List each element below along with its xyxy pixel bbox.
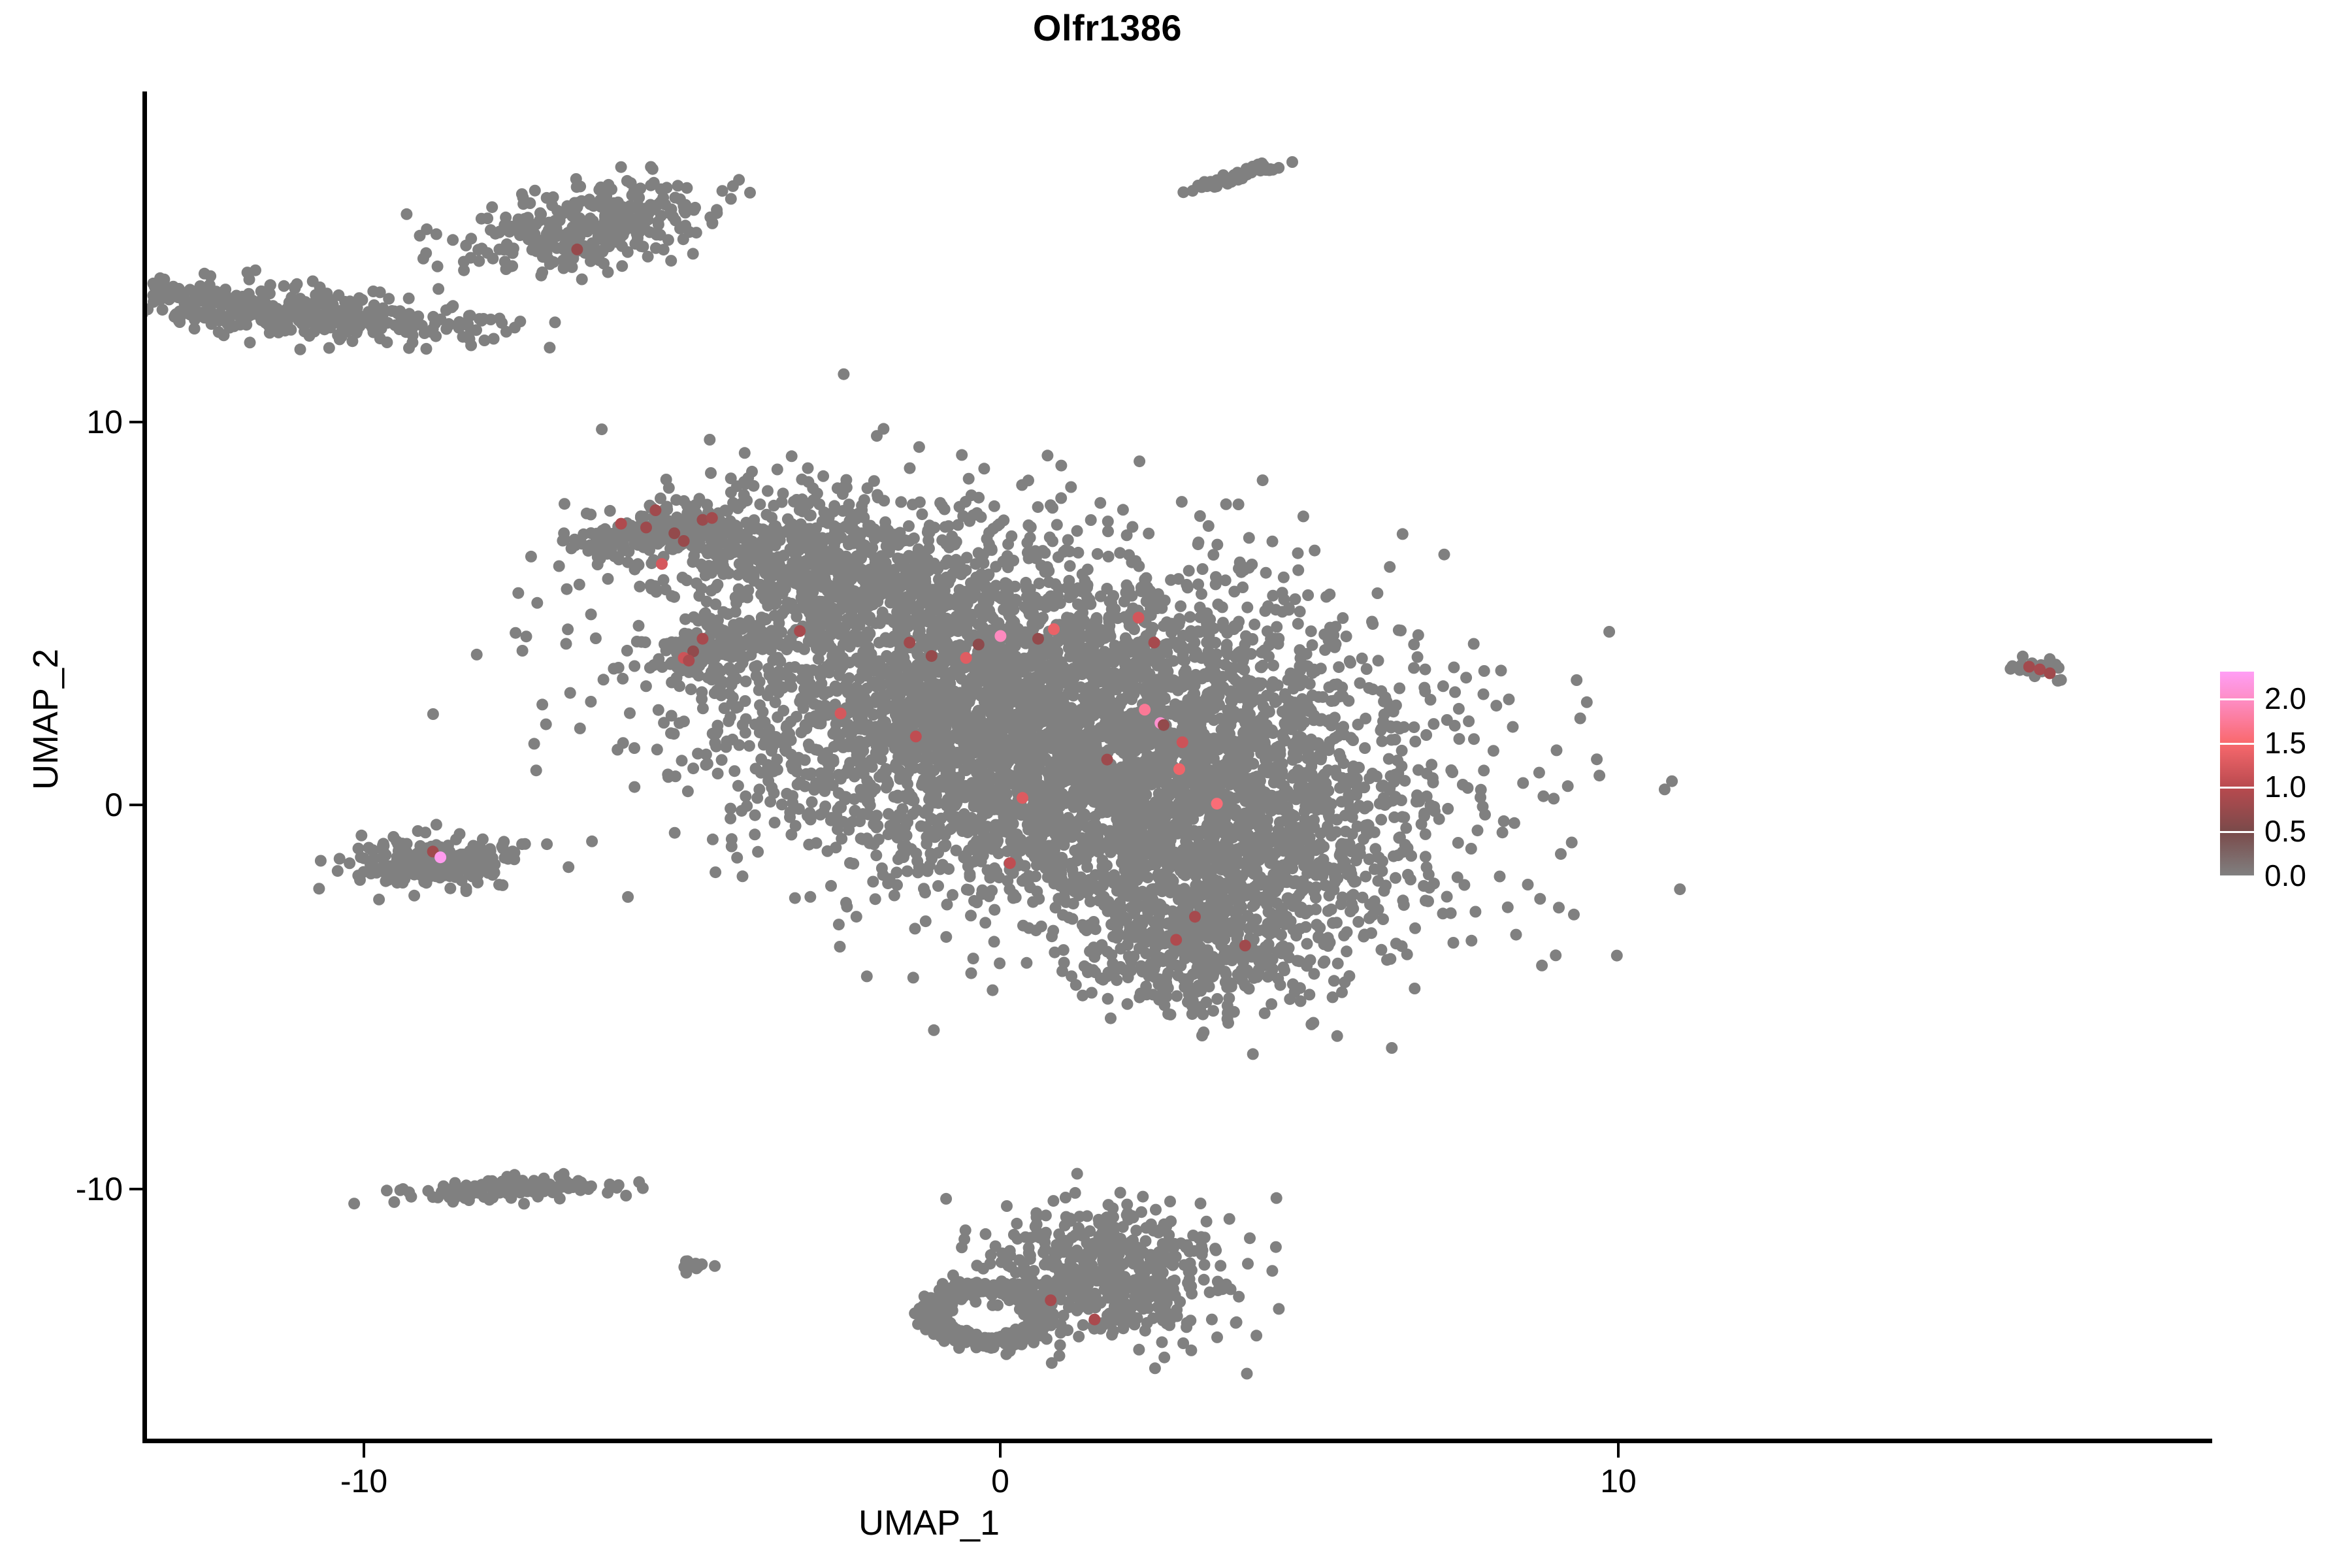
y-tick-label: -10 bbox=[76, 1170, 123, 1208]
x-tick-mark bbox=[999, 1443, 1002, 1458]
legend-tick-mark bbox=[2220, 787, 2254, 789]
legend-colorbar bbox=[2220, 672, 2254, 875]
y-axis-line bbox=[142, 91, 147, 1443]
x-tick-mark bbox=[363, 1443, 365, 1458]
legend-tick-label: 1.5 bbox=[2264, 725, 2306, 760]
legend-tick-label: 2.0 bbox=[2264, 681, 2306, 716]
y-tick-mark bbox=[129, 804, 142, 806]
legend-tick-mark bbox=[2220, 831, 2254, 833]
y-tick-mark bbox=[129, 421, 142, 423]
y-axis-title: UMAP_2 bbox=[25, 523, 66, 915]
page-title: Olfr1386 bbox=[0, 7, 2215, 49]
legend-tick-label: 1.0 bbox=[2264, 769, 2306, 804]
y-tick-mark bbox=[129, 1188, 142, 1190]
color-legend: 2.01.51.00.50.0 bbox=[2220, 672, 2351, 887]
x-tick-mark bbox=[1617, 1443, 1620, 1458]
y-tick-label: 10 bbox=[86, 403, 123, 441]
legend-tick-mark bbox=[2220, 698, 2254, 700]
legend-tick-mark bbox=[2220, 743, 2254, 745]
scatter-points-layer bbox=[145, 91, 2210, 1441]
y-tick-label: 0 bbox=[105, 786, 123, 824]
x-axis-title: UMAP_1 bbox=[145, 1503, 1713, 1543]
x-tick-label: 10 bbox=[1600, 1462, 1637, 1500]
x-tick-label: -10 bbox=[340, 1462, 387, 1500]
scatter-panel bbox=[145, 91, 2210, 1441]
figure-root: Olfr1386 -10010 100-10 UMAP_1 UMAP_2 2.0… bbox=[0, 0, 2352, 1568]
x-axis-line bbox=[142, 1439, 2212, 1443]
legend-tick-label: 0.5 bbox=[2264, 813, 2306, 849]
legend-tick-label: 0.0 bbox=[2264, 858, 2306, 893]
x-tick-label: 0 bbox=[991, 1462, 1009, 1500]
